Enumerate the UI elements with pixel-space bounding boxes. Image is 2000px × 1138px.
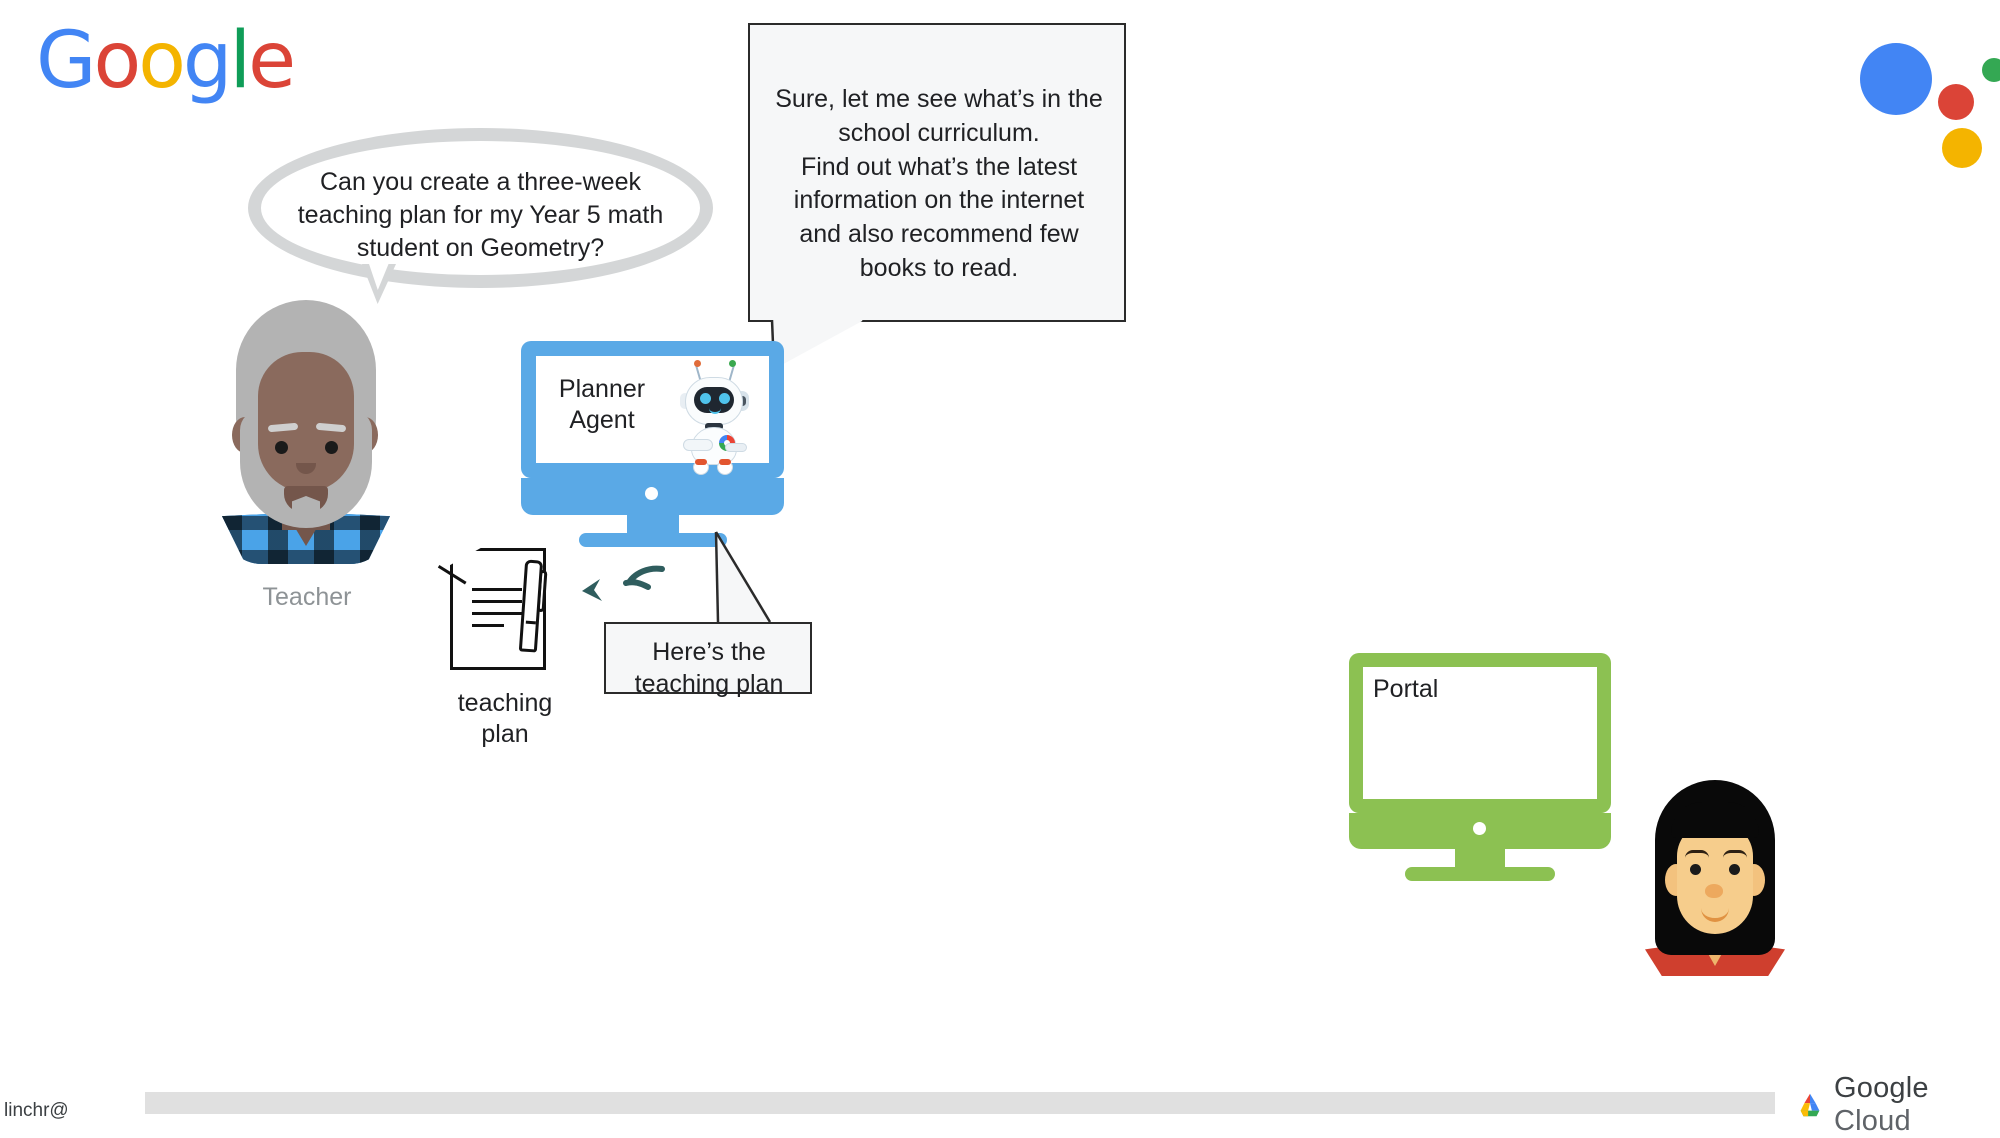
arrow-agent-to-plan-icon bbox=[560, 565, 670, 605]
teacher-cheek bbox=[274, 396, 338, 440]
student-eye-right bbox=[1729, 864, 1740, 875]
agent-speech-bubble: Sure, let me see what’s in the school cu… bbox=[748, 23, 1126, 322]
footer-user-label: linchr@ bbox=[4, 1100, 69, 1122]
teacher-speech-bubble: Can you create a three-week teaching pla… bbox=[248, 128, 713, 288]
portal-monitor: Portal bbox=[1349, 653, 1611, 873]
student-eyebrow-right bbox=[1723, 850, 1747, 858]
google-cloud-word-cloud: Cloud bbox=[1834, 1105, 1911, 1137]
agent-speech-bubble-tail bbox=[770, 318, 864, 370]
portal-stand-foot bbox=[1405, 867, 1555, 881]
student-eyebrow-left bbox=[1685, 850, 1709, 858]
google-logo-letter-2: o bbox=[138, 22, 183, 100]
student-avatar bbox=[1645, 780, 1785, 975]
robot-mascot-icon bbox=[673, 363, 757, 475]
google-cloud-word-google: Google bbox=[1834, 1072, 1929, 1104]
student-nose bbox=[1705, 884, 1723, 898]
teacher-label: Teacher bbox=[247, 583, 367, 612]
google-logo-letter-1: o bbox=[93, 22, 138, 100]
document-text-line bbox=[472, 588, 522, 591]
google-assistant-icon bbox=[1860, 38, 1980, 138]
plan-delivery-bubble: Here’s the teaching plan bbox=[604, 622, 812, 694]
portal-power-dot-icon bbox=[1473, 822, 1486, 835]
teaching-plan-document-icon bbox=[450, 548, 560, 670]
google-cloud-mark-icon bbox=[1795, 1090, 1825, 1120]
plan-delivery-text: Here’s the teaching plan bbox=[616, 636, 802, 700]
planner-agent-label: Planner Agent bbox=[547, 374, 657, 437]
teacher-avatar bbox=[222, 300, 390, 565]
footer-progress-bar bbox=[145, 1092, 1775, 1114]
student-fringe bbox=[1671, 802, 1759, 838]
document-text-line bbox=[472, 600, 522, 603]
assistant-dot-yellow-icon bbox=[1942, 128, 1982, 168]
google-cloud-logo: Google Cloud bbox=[1795, 1085, 2000, 1125]
teacher-eye-left bbox=[275, 441, 288, 454]
assistant-dot-blue-icon bbox=[1860, 43, 1932, 115]
monitor-stand-foot bbox=[579, 533, 727, 547]
agent-speech-text: Sure, let me see what’s in the school cu… bbox=[772, 83, 1106, 286]
google-logo: Google bbox=[36, 22, 293, 100]
teacher-speech-text: Can you create a three-week teaching pla… bbox=[288, 166, 673, 265]
google-logo-letter-0: G bbox=[36, 22, 93, 100]
assistant-dot-red-icon bbox=[1938, 84, 1974, 120]
planner-agent-monitor: Planner Agent bbox=[521, 341, 784, 526]
teacher-eye-right bbox=[325, 441, 338, 454]
assistant-dot-green-icon bbox=[1982, 58, 2000, 82]
teaching-plan-label: teaching plan bbox=[430, 688, 580, 751]
google-logo-letter-4: l bbox=[229, 22, 248, 100]
document-text-line bbox=[472, 624, 504, 627]
google-cloud-wordmark: Google Cloud bbox=[1834, 1072, 2000, 1138]
google-logo-letter-3: g bbox=[183, 22, 230, 100]
google-logo-letter-5: e bbox=[248, 22, 293, 100]
portal-label: Portal bbox=[1373, 675, 1438, 704]
student-eye-left bbox=[1690, 864, 1701, 875]
monitor-power-dot-icon bbox=[645, 487, 658, 500]
plan-bubble-tail bbox=[712, 530, 774, 624]
document-text-line bbox=[472, 612, 522, 615]
